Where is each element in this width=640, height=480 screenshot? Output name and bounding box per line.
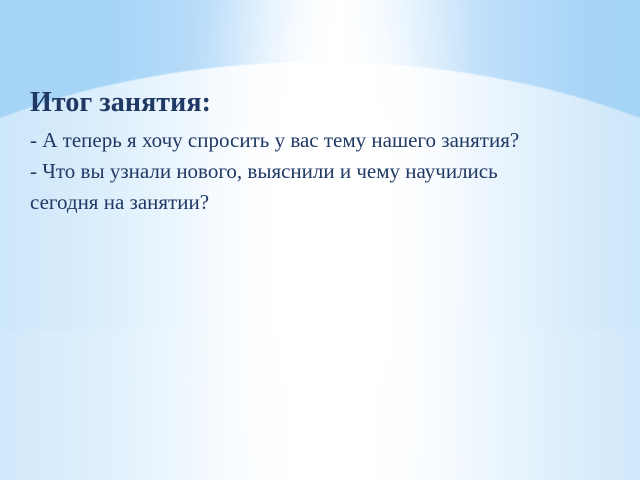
presentation-slide: Итог занятия: - А теперь я хочу спросить… [0,0,640,480]
slide-title: Итог занятия: [30,86,560,120]
slide-text-block: Итог занятия: - А теперь я хочу спросить… [30,86,560,218]
slide-body-text: - А теперь я хочу спросить у вас тему на… [30,125,560,218]
background-center-glow [0,0,640,480]
